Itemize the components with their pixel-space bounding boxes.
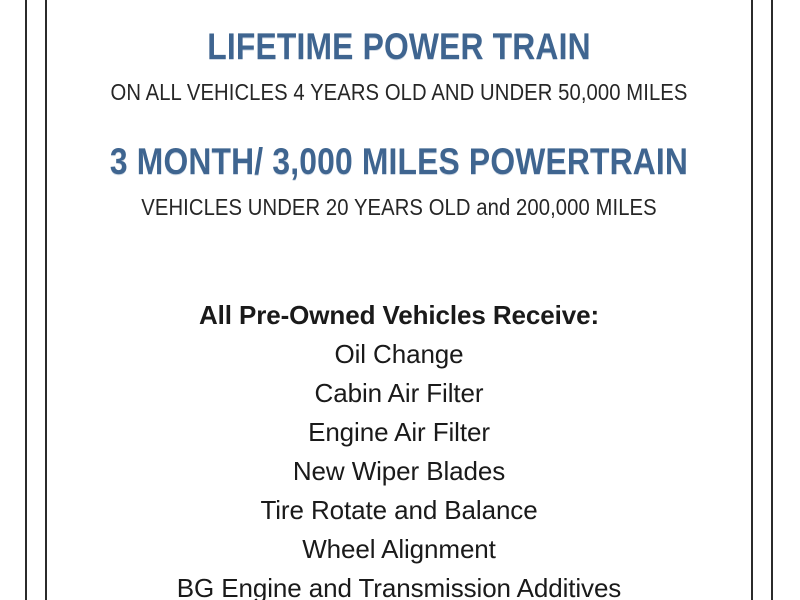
services-list-title: All Pre-Owned Vehicles Receive: — [47, 302, 751, 328]
warranty-headline-three-month: 3 MONTH/ 3,000 MILES POWERTRAIN — [96, 143, 701, 180]
border-rule-left-outer — [25, 0, 27, 600]
warranty-headline-lifetime: LIFETIME POWER TRAIN — [96, 28, 701, 65]
service-item: Wheel Alignment — [47, 536, 751, 562]
warranty-subline-lifetime: ON ALL VEHICLES 4 YEARS OLD AND UNDER 50… — [89, 81, 709, 104]
warranty-subline-three-month: VEHICLES UNDER 20 YEARS OLD and 200,000 … — [89, 196, 709, 219]
flyer-content: LIFETIME POWER TRAIN ON ALL VEHICLES 4 Y… — [47, 0, 751, 600]
service-item: Cabin Air Filter — [47, 380, 751, 406]
warranty-flyer: LIFETIME POWER TRAIN ON ALL VEHICLES 4 Y… — [0, 0, 800, 600]
service-item: Engine Air Filter — [47, 419, 751, 445]
border-rule-right-inner — [751, 0, 753, 600]
warranty-block-three-month: 3 MONTH/ 3,000 MILES POWERTRAIN VEHICLES… — [47, 143, 751, 219]
warranty-block-lifetime: LIFETIME POWER TRAIN ON ALL VEHICLES 4 Y… — [47, 28, 751, 104]
border-rule-right-outer — [771, 0, 773, 600]
service-item: Oil Change — [47, 341, 751, 367]
service-item: Tire Rotate and Balance — [47, 497, 751, 523]
services-list: All Pre-Owned Vehicles Receive: Oil Chan… — [47, 302, 751, 600]
service-item: New Wiper Blades — [47, 458, 751, 484]
service-item: BG Engine and Transmission Additives — [47, 575, 751, 600]
